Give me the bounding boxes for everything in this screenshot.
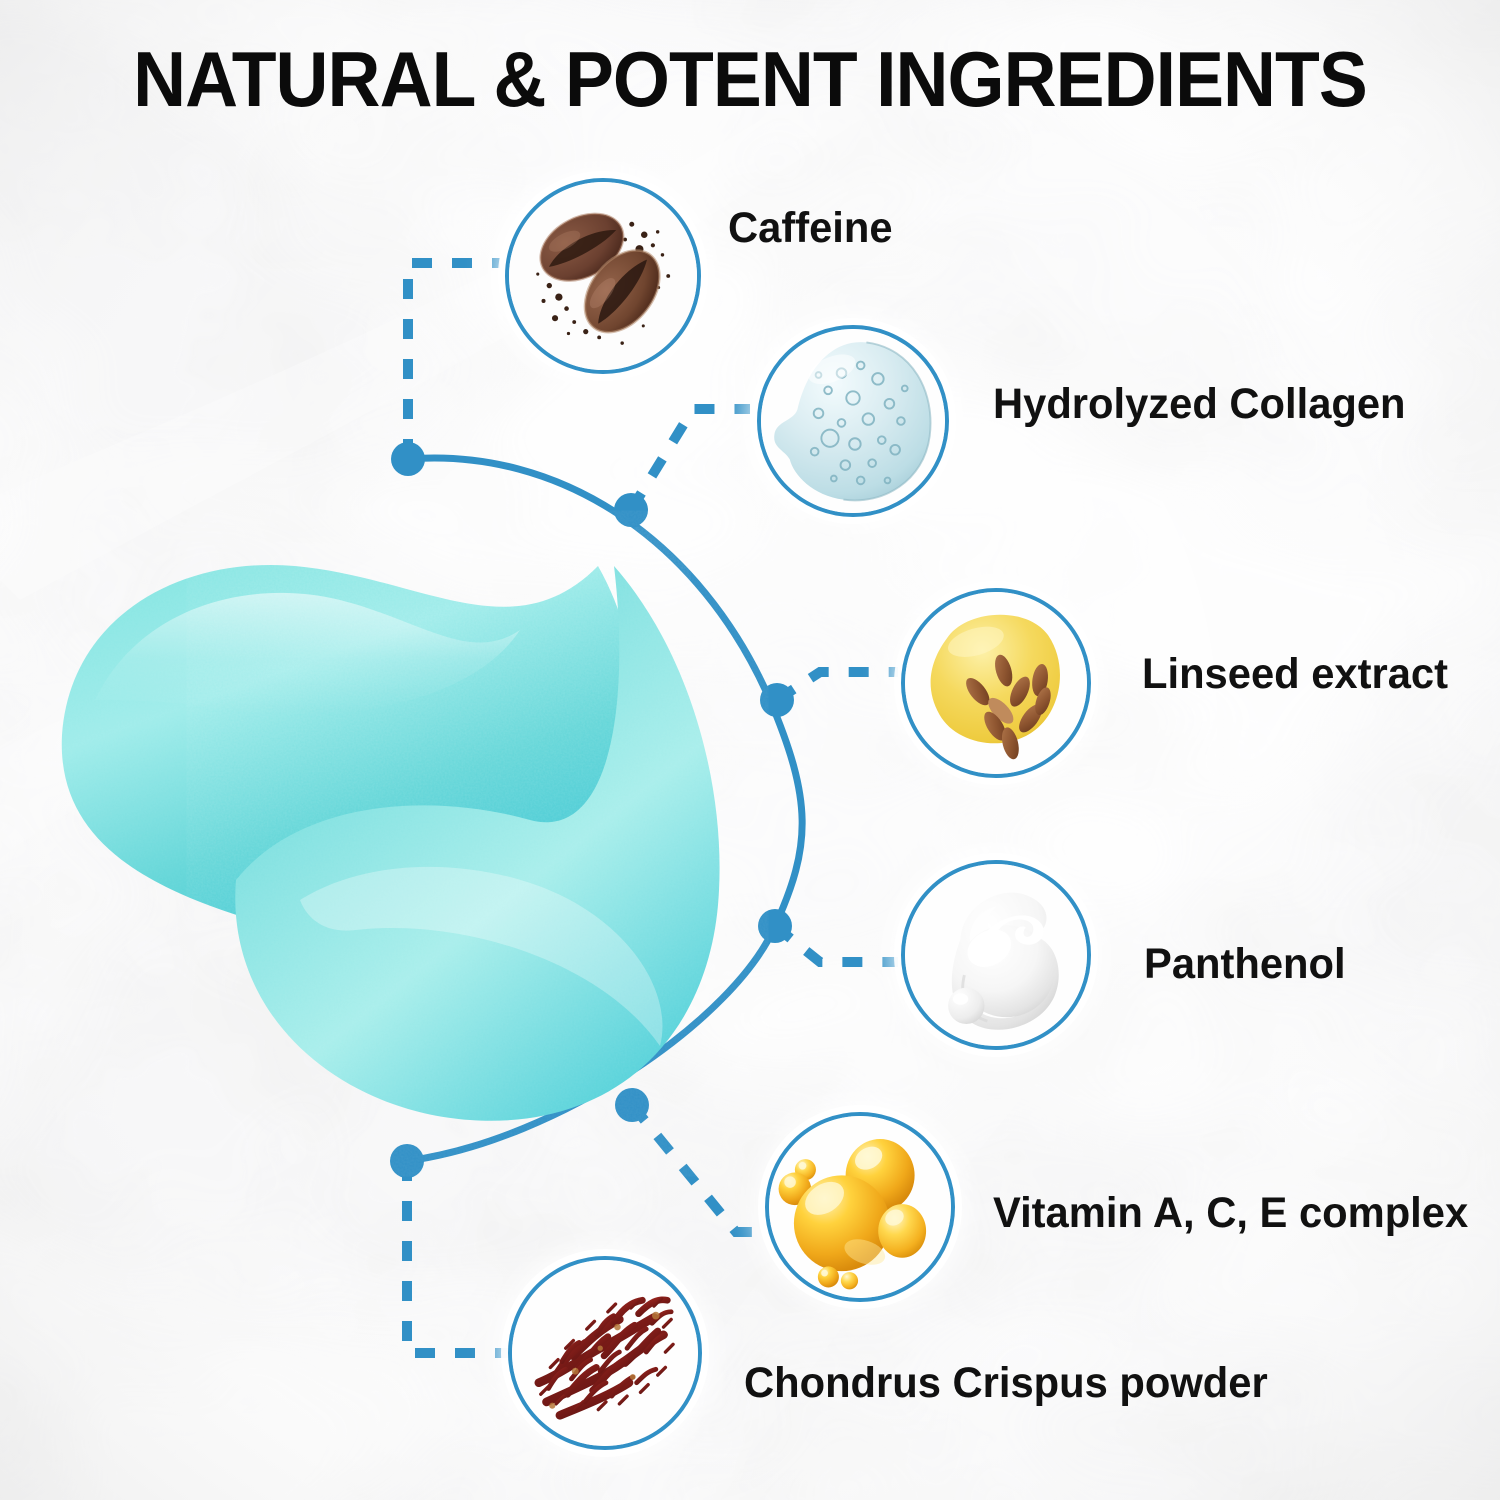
red-seaweed-icon bbox=[512, 1260, 698, 1446]
linseed-label: Linseed extract bbox=[1142, 653, 1448, 696]
oil-bubbles-icon bbox=[769, 1116, 951, 1298]
ingredient-caffeine[interactable]: Caffeine bbox=[505, 178, 701, 374]
collagen-circle bbox=[757, 325, 949, 517]
chondrus-label: Chondrus Crispus powder bbox=[744, 1362, 1268, 1405]
panthenol-circle bbox=[901, 860, 1091, 1050]
coffee-beans-icon bbox=[509, 182, 697, 370]
caffeine-circle bbox=[505, 178, 701, 374]
ingredient-linseed-extract[interactable]: Linseed extract bbox=[901, 588, 1091, 778]
ingredient-chondrus-crispus[interactable]: Chondrus Crispus powder bbox=[508, 1256, 702, 1450]
flax-seeds-oil-icon bbox=[905, 592, 1087, 774]
panthenol-label: Panthenol bbox=[1144, 943, 1346, 986]
ingredient-vitamin-complex[interactable]: Vitamin A, C, E complex bbox=[765, 1112, 955, 1302]
vitamin-circle bbox=[765, 1112, 955, 1302]
chondrus-circle bbox=[508, 1256, 702, 1450]
cream-dollop-icon bbox=[905, 864, 1087, 1046]
ingredient-panthenol[interactable]: Panthenol bbox=[901, 860, 1091, 1050]
page-title: NATURAL & POTENT INGREDIENTS bbox=[45, 34, 1455, 125]
vitamin-label: Vitamin A, C, E complex bbox=[993, 1192, 1468, 1235]
collagen-label: Hydrolyzed Collagen bbox=[993, 383, 1406, 426]
linseed-circle bbox=[901, 588, 1091, 778]
caffeine-label: Caffeine bbox=[728, 207, 893, 250]
ingredient-hydrolyzed-collagen[interactable]: Hydrolyzed Collagen bbox=[757, 325, 949, 517]
gel-drop-icon bbox=[761, 329, 945, 513]
